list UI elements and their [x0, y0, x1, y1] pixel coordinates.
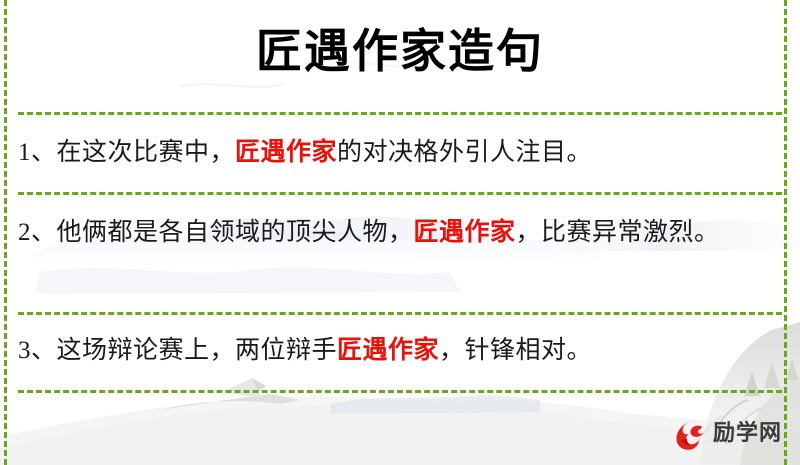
sentence-3-index: 3、 [18, 337, 57, 364]
divider-3 [18, 312, 782, 315]
sentence-2-keyword: 匠遇作家 [414, 217, 516, 246]
sentence-3-keyword: 匠遇作家 [337, 335, 439, 364]
sentence-1-after: 的对决格外引人注目。 [337, 139, 592, 166]
sentence-1-before: 在这次比赛中， [57, 139, 236, 166]
divider-1 [18, 112, 782, 115]
example-sentence-3: 3、这场辩论赛上，两位辩手匠遇作家，针锋相对。 [18, 328, 774, 372]
sentence-1-keyword: 匠遇作家 [235, 137, 337, 166]
sentence-3-after: ，针锋相对。 [439, 337, 592, 364]
flame-swirl-icon [672, 416, 708, 452]
sentence-1-index: 1、 [18, 139, 57, 166]
sentence-2-index: 2、 [18, 219, 57, 246]
example-sentence-2: 2、他俩都是各自领域的顶尖人物，匠遇作家，比赛异常激烈。 [18, 210, 774, 254]
document-page: 匠遇作家造句 1、在这次比赛中，匠遇作家的对决格外引人注目。 2、他俩都是各自领… [0, 0, 800, 465]
sentence-2-before: 他俩都是各自领域的顶尖人物， [57, 219, 414, 246]
site-watermark: 励学网 [672, 416, 782, 452]
page-border-left [4, 0, 7, 465]
sentence-2-after: ，比赛异常激烈。 [516, 219, 720, 246]
divider-4 [18, 390, 782, 393]
sentence-3-before: 这场辩论赛上，两位辩手 [57, 337, 338, 364]
document-content: 匠遇作家造句 1、在这次比赛中，匠遇作家的对决格外引人注目。 2、他俩都是各自领… [0, 0, 800, 465]
watermark-brand-label: 励学网 [713, 422, 782, 446]
page-border-right [784, 0, 787, 465]
divider-2 [18, 192, 782, 195]
example-sentence-1: 1、在这次比赛中，匠遇作家的对决格外引人注目。 [18, 130, 774, 174]
page-title: 匠遇作家造句 [0, 22, 800, 80]
